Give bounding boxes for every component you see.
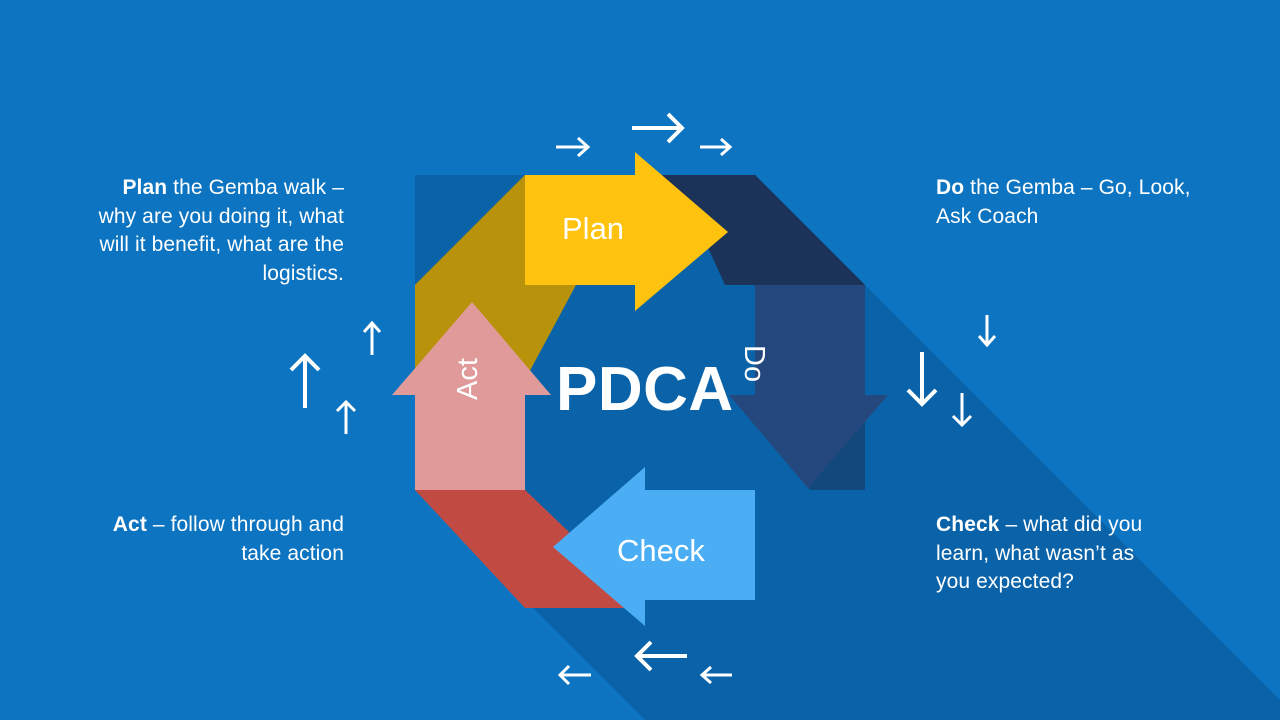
motion-arrows-left bbox=[560, 642, 732, 684]
callout-act: Act – follow through and take action bbox=[96, 511, 344, 568]
callout-check-lead: Check bbox=[936, 513, 1000, 536]
callout-check: Check – what did you learn, what wasn’t … bbox=[936, 511, 1166, 597]
callout-plan: Plan the Gemba walk – why are you doing … bbox=[96, 174, 344, 288]
motion-arrows-right bbox=[556, 114, 730, 156]
callout-plan-lead: Plan bbox=[122, 176, 167, 199]
motion-arrows-up bbox=[291, 323, 380, 434]
callout-act-lead: Act bbox=[113, 513, 147, 536]
center-label: PDCA bbox=[556, 354, 734, 425]
pdca-slide: PDCA Plan Do Check Act Plan the Gemba wa… bbox=[0, 0, 1280, 720]
motion-arrows-down bbox=[908, 315, 995, 425]
callout-do: Do the Gemba – Go, Look, Ask Coach bbox=[936, 174, 1196, 231]
callout-act-body: – follow through and take action bbox=[147, 513, 344, 565]
callout-do-body: the Gemba – Go, Look, Ask Coach bbox=[936, 176, 1191, 228]
callout-do-lead: Do bbox=[936, 176, 964, 199]
